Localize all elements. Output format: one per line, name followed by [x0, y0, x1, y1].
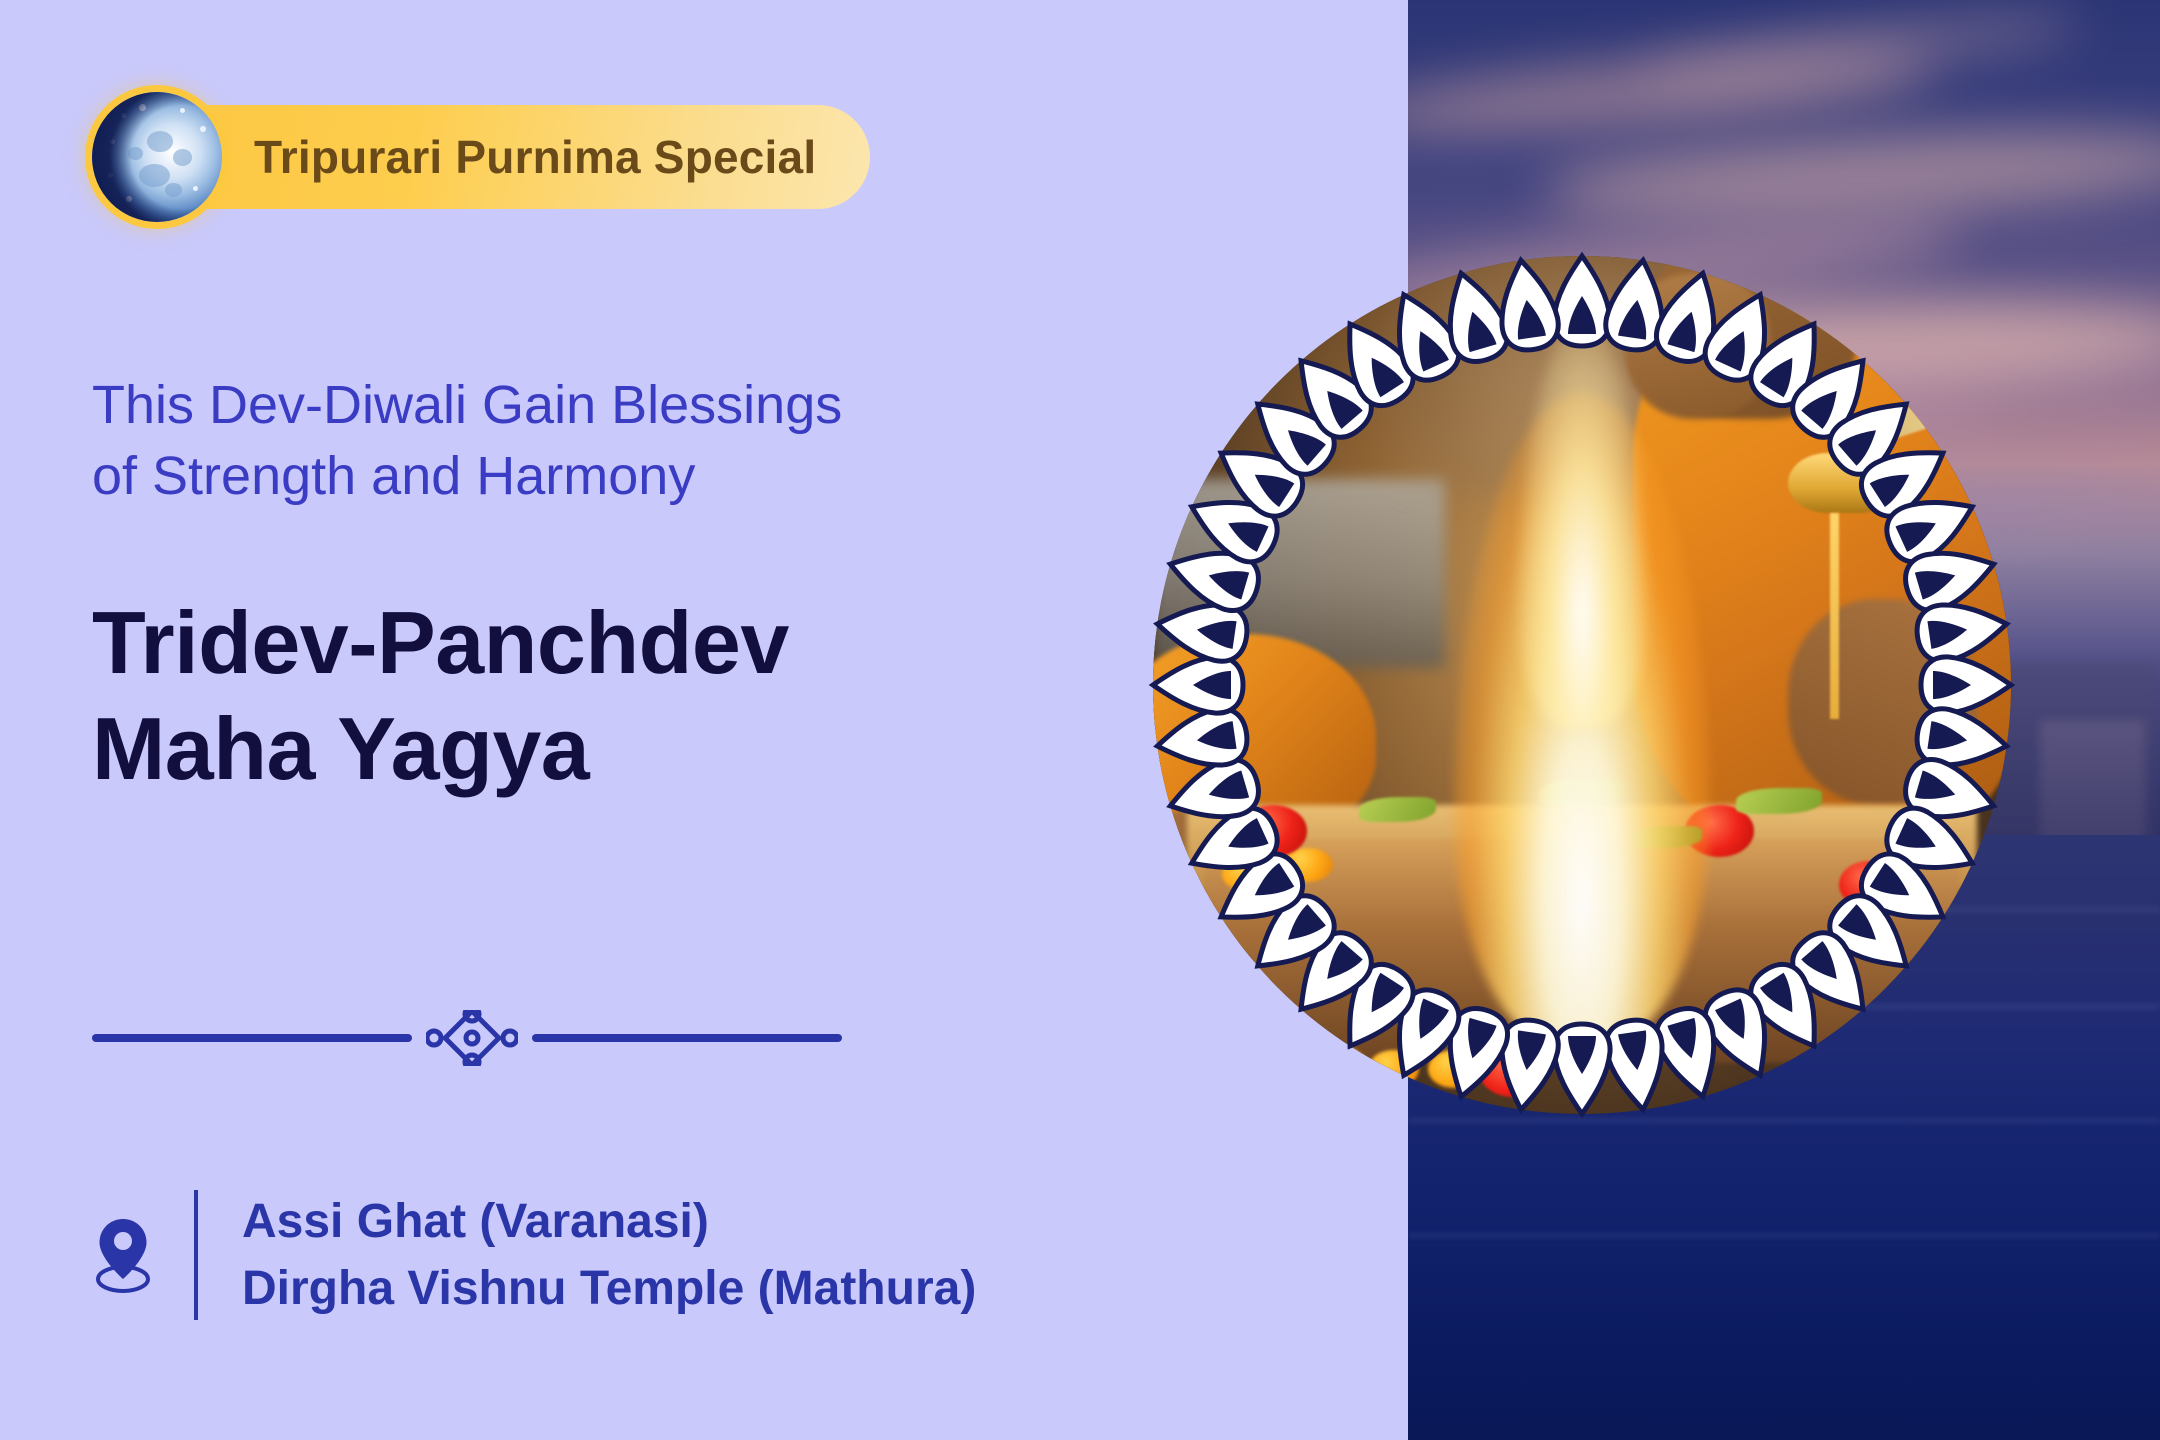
headline-line-2: Maha Yagya [92, 696, 1092, 802]
ornamental-divider [92, 1010, 852, 1066]
promotional-banner: Tripurari Purnima Special This Dev-Diwal… [0, 0, 2160, 1440]
page-title: Tridev-Panchdev Maha Yagya [92, 590, 1092, 803]
venue-item: Assi Ghat (Varanasi) [242, 1194, 976, 1249]
subtitle-line-1: This Dev-Diwali Gain Blessings [92, 370, 1032, 441]
diamond-dots-ornament [426, 1010, 518, 1066]
water-shimmer [1408, 1234, 2160, 1237]
badge-label: Tripurari Purnima Special [254, 130, 816, 184]
map-pin-icon [92, 1216, 154, 1294]
occasion-badge: Tripurari Purnima Special [92, 92, 870, 222]
subtitle-line-2: of Strength and Harmony [92, 441, 1032, 512]
subtitle: This Dev-Diwali Gain Blessings of Streng… [92, 370, 1032, 513]
lotus-petal-mandala-border [1077, 180, 2087, 1190]
divider-rule-right [532, 1034, 842, 1042]
venue-block: Assi Ghat (Varanasi) Dirgha Vishnu Templ… [92, 1190, 976, 1320]
venue-item: Dirgha Vishnu Temple (Mathura) [242, 1261, 976, 1316]
headline-line-1: Tridev-Panchdev [92, 590, 1092, 696]
divider-rule-left [92, 1034, 412, 1042]
venue-list: Assi Ghat (Varanasi) Dirgha Vishnu Templ… [242, 1194, 976, 1316]
full-moon-icon [92, 92, 222, 222]
mandala-photo-frame [1077, 180, 2087, 1190]
venue-divider [194, 1190, 198, 1320]
